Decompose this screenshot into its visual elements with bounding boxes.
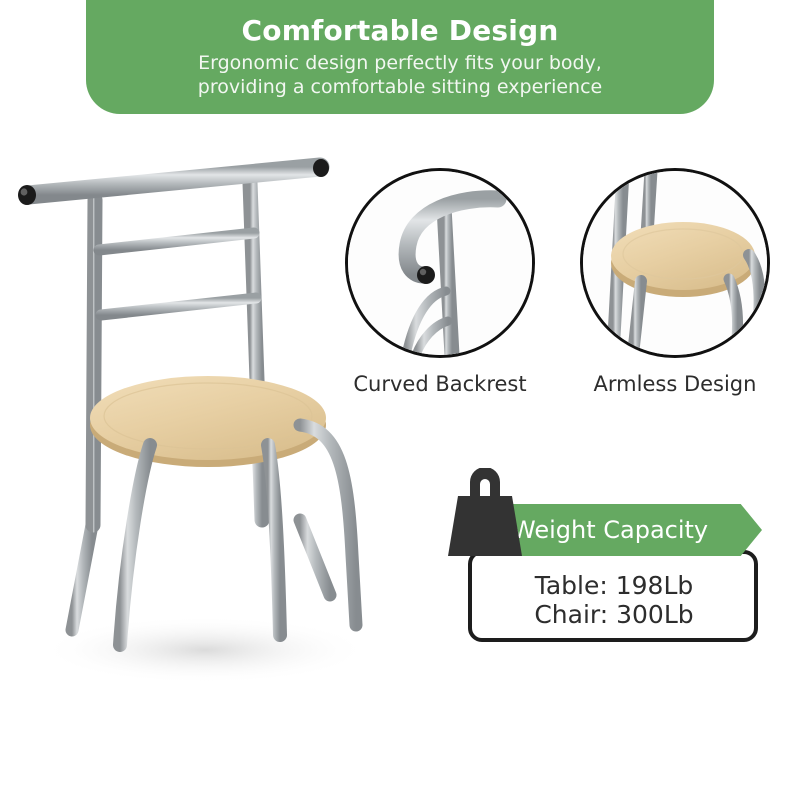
callout-armless-design	[580, 168, 770, 358]
curved-backrest-detail-image	[348, 171, 532, 355]
header-banner: Comfortable Design Ergonomic design perf…	[86, 0, 714, 114]
banner-subtitle-line-1: Ergonomic design perfectly fits your bod…	[198, 51, 602, 75]
callout-label-curved-backrest: Curved Backrest	[325, 372, 555, 396]
banner-subtitle: Ergonomic design perfectly fits your bod…	[198, 51, 602, 100]
weight-row-chair: Chair: 300Lb	[478, 601, 750, 630]
page-title: Comfortable Design	[242, 15, 559, 47]
weight-capacity-values: Table: 198Lb Chair: 300Lb	[478, 572, 750, 629]
product-photo	[0, 125, 400, 765]
weight-icon	[444, 468, 526, 560]
weight-capacity-ribbon: Weight Capacity	[496, 504, 762, 556]
armless-design-detail-image	[583, 171, 767, 355]
infographic-canvas: Comfortable Design Ergonomic design perf…	[0, 0, 800, 800]
callout-label-armless-design: Armless Design	[560, 372, 790, 396]
banner-subtitle-line-2: providing a comfortable sitting experien…	[198, 75, 602, 99]
weight-capacity-block: Weight Capacity Table: 198Lb Chair: 300L…	[440, 462, 770, 652]
weight-capacity-title: Weight Capacity	[496, 518, 708, 542]
chair-illustration	[0, 125, 400, 765]
callout-curved-backrest	[345, 168, 535, 358]
weight-row-table: Table: 198Lb	[478, 572, 750, 601]
